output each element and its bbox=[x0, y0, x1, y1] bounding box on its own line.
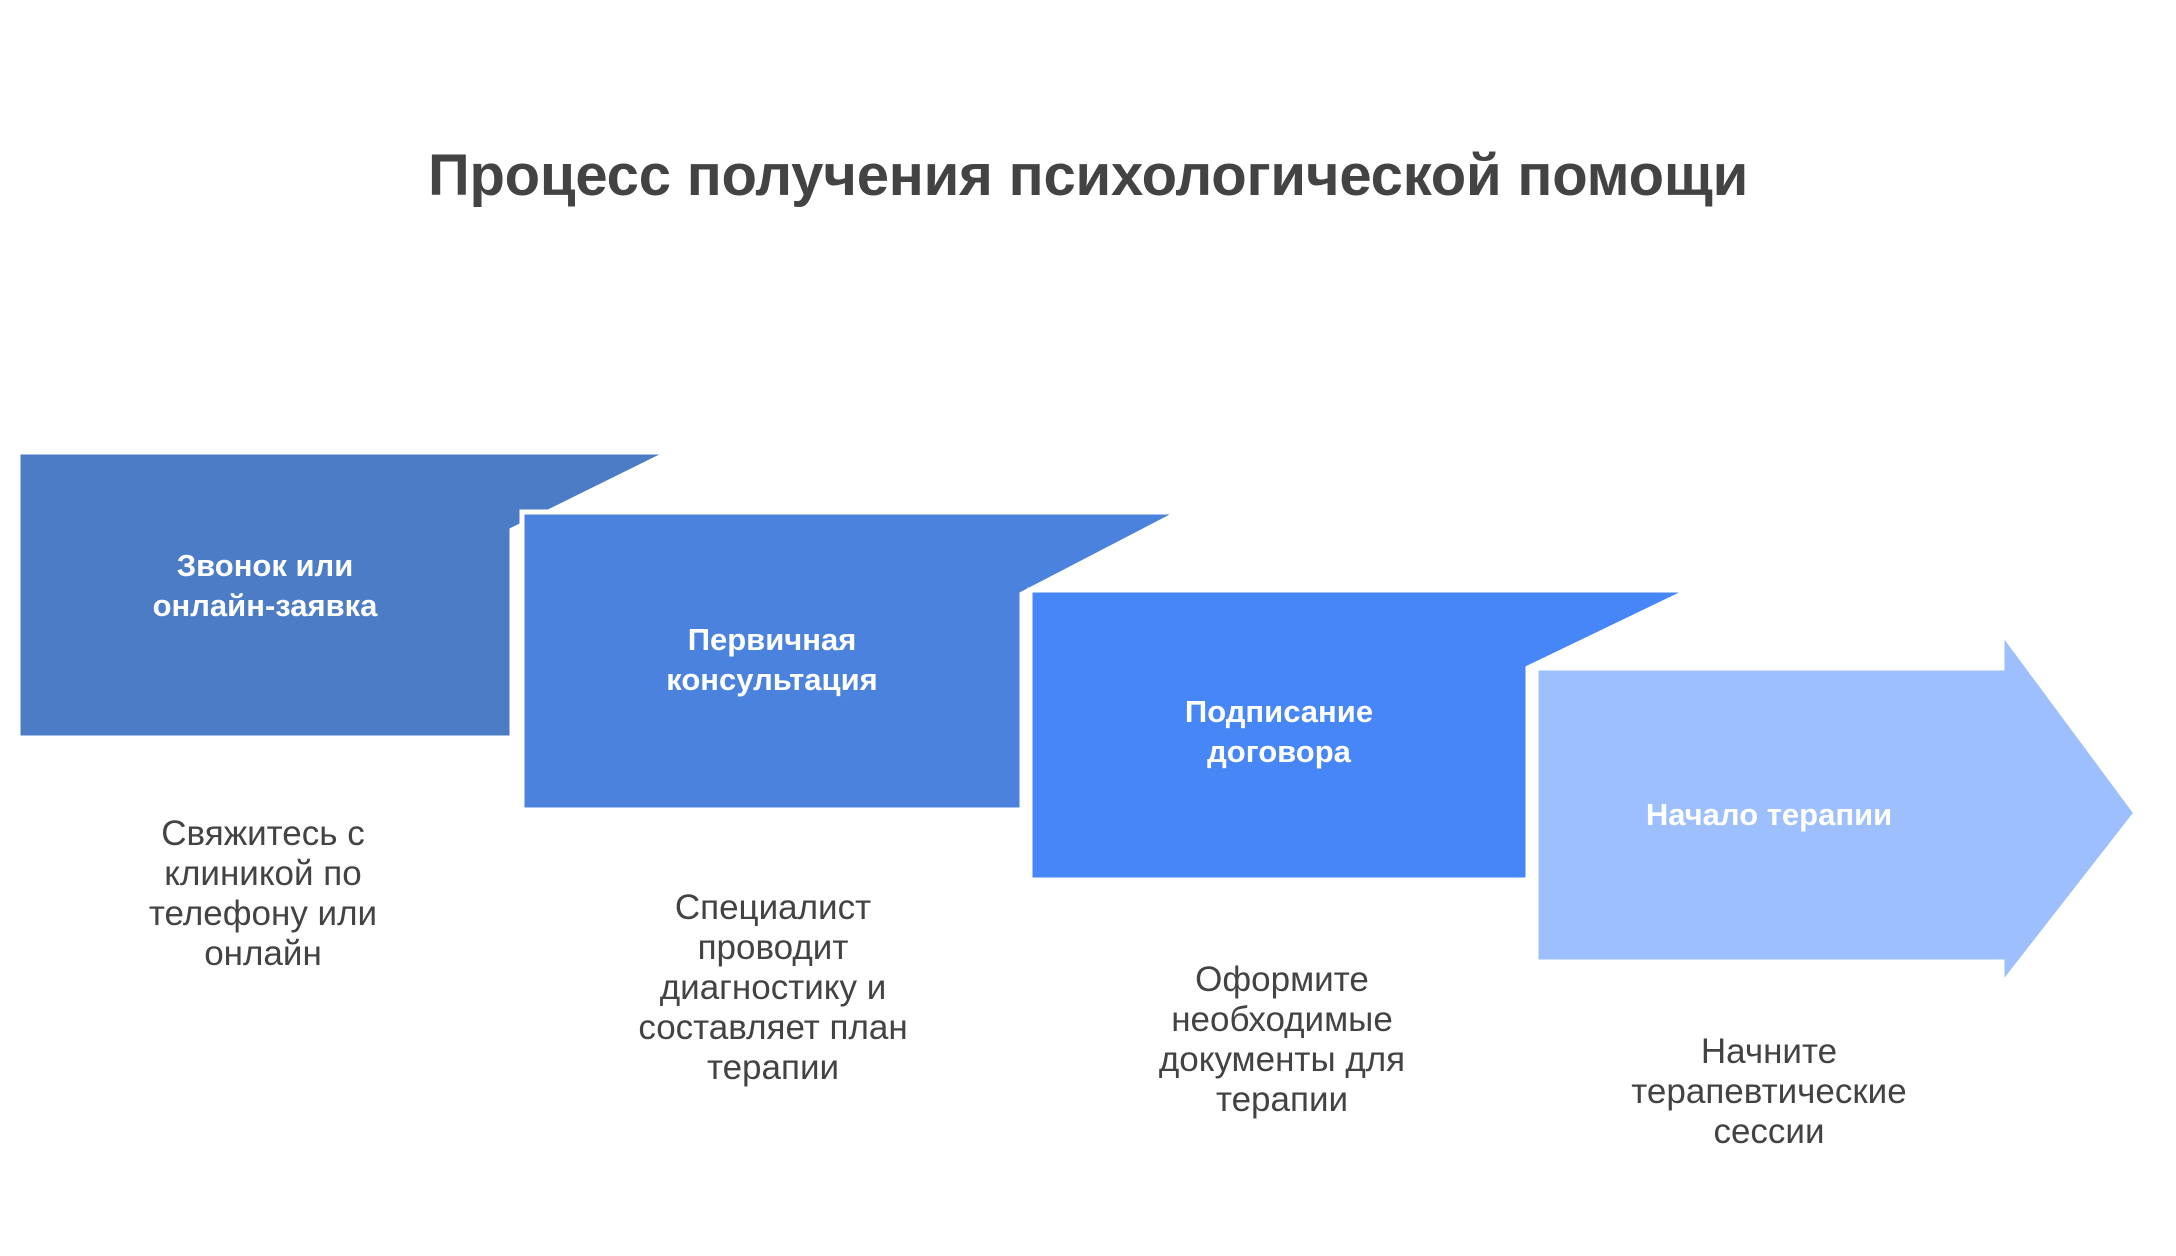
step-1-caption: Свяжитесь с клиникой по телефону или онл… bbox=[48, 814, 478, 974]
step-3-caption: Оформите необходимые документы для терап… bbox=[1068, 960, 1496, 1120]
step-4-label: Начало терапии bbox=[1536, 795, 2002, 835]
step-4-caption: Начните терапевтические сессии bbox=[1552, 1032, 1986, 1152]
step-1-label: Звонок или онлайн-заявка bbox=[18, 546, 512, 625]
step-2-label: Первичная консультация bbox=[522, 620, 1022, 699]
slide-canvas: Процесс получения психологической помощи… bbox=[0, 0, 2176, 1256]
step-2-caption: Специалист проводит диагностику и состав… bbox=[548, 888, 998, 1087]
step-3-label: Подписание договора bbox=[1030, 692, 1528, 771]
